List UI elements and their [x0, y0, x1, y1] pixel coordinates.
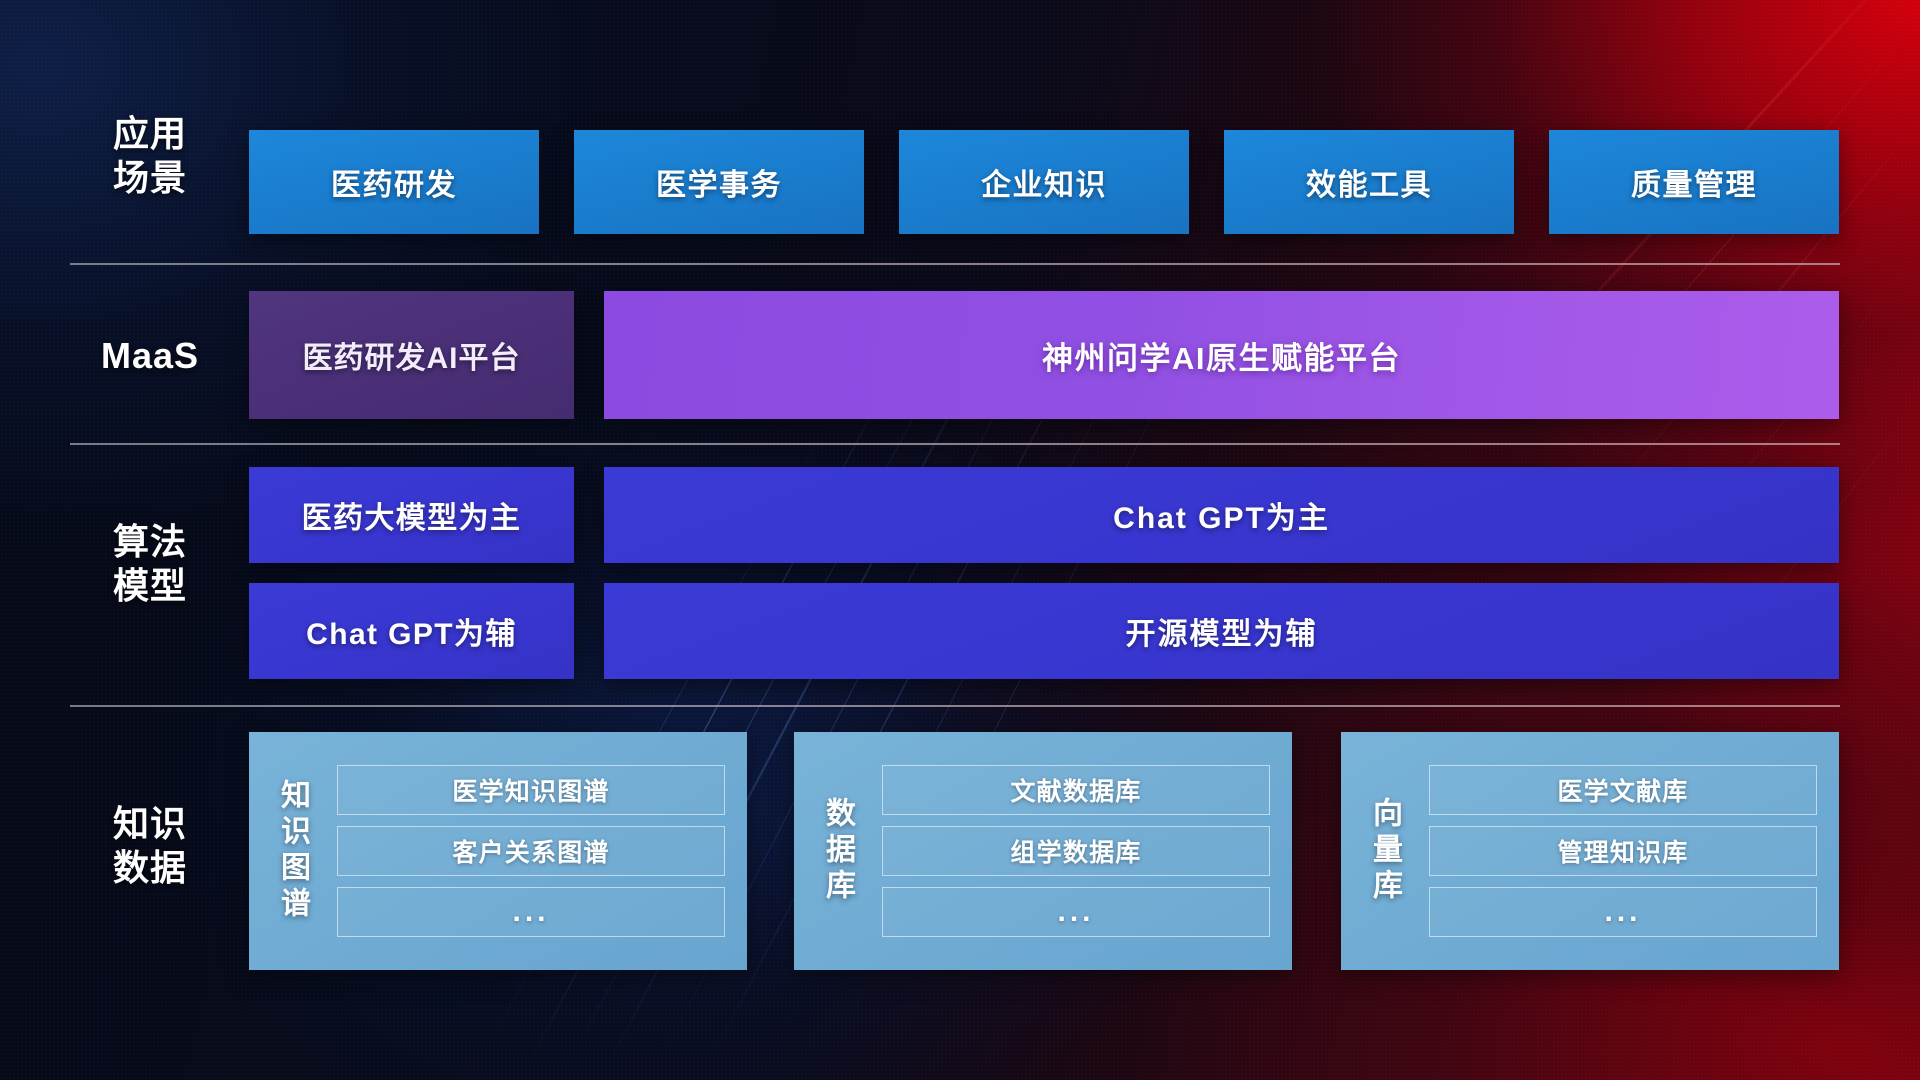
algorithm-row-0-left[interactable]: 医药大模型为主: [249, 467, 574, 563]
knowledge-group-0-label: 知识图谱: [249, 732, 335, 970]
knowledge-group-0-item-0[interactable]: 医学知识图谱: [337, 765, 725, 815]
maas-left-box[interactable]: 医药研发AI平台: [249, 291, 574, 419]
maas-right-box-label: 神州问学AI原生赋能平台: [1042, 333, 1401, 378]
app-box-2-label: 企业知识: [981, 160, 1107, 204]
knowledge-group-2-item-1[interactable]: 管理知识库: [1429, 826, 1817, 876]
app-box-0[interactable]: 医药研发: [249, 130, 539, 234]
tier-label-application: 应用 场景: [70, 112, 230, 200]
maas-right-box[interactable]: 神州问学AI原生赋能平台: [604, 291, 1839, 419]
app-box-4[interactable]: 质量管理: [1549, 130, 1839, 234]
knowledge-group-2-item-0[interactable]: 医学文献库: [1429, 765, 1817, 815]
knowledge-group-0-item-2[interactable]: ...: [337, 887, 725, 937]
knowledge-group-2-items: 医学文献库 管理知识库 ...: [1427, 732, 1839, 970]
knowledge-group-1-items: 文献数据库 组学数据库 ...: [880, 732, 1292, 970]
knowledge-group-1-label: 数据库: [794, 732, 880, 970]
algorithm-row-1-left-label: Chat GPT为辅: [306, 609, 517, 653]
tier-label-maas: MaaS: [70, 334, 230, 378]
app-box-1[interactable]: 医学事务: [574, 130, 864, 234]
algorithm-row-0-right-label: Chat GPT为主: [1113, 493, 1330, 537]
architecture-diagram: 应用 场景 医药研发 医学事务 企业知识 效能工具 质量管理 MaaS 医药研发…: [0, 0, 1920, 1080]
knowledge-group-2-item-2[interactable]: ...: [1429, 887, 1817, 937]
app-box-1-label: 医学事务: [656, 160, 782, 204]
knowledge-group-2[interactable]: 向量库 医学文献库 管理知识库 ...: [1341, 732, 1839, 970]
divider-algorithm-knowledge: [70, 705, 1840, 707]
tier-label-knowledge: 知识 数据: [70, 802, 230, 890]
app-box-3-label: 效能工具: [1306, 160, 1432, 204]
algorithm-row-1-right-label: 开源模型为辅: [1126, 609, 1318, 653]
divider-maas-algorithm: [70, 443, 1840, 445]
knowledge-group-0-items: 医学知识图谱 客户关系图谱 ...: [335, 732, 747, 970]
algorithm-row-0-right[interactable]: Chat GPT为主: [604, 467, 1839, 563]
tier-label-maas-text: MaaS: [70, 334, 230, 378]
divider-application-maas: [70, 263, 1840, 265]
tier-label-algorithm-line2: 模型: [70, 564, 230, 608]
tier-label-application-line1: 应用: [70, 112, 230, 156]
knowledge-group-0-item-1[interactable]: 客户关系图谱: [337, 826, 725, 876]
knowledge-group-1-item-0[interactable]: 文献数据库: [882, 765, 1270, 815]
tier-label-application-line2: 场景: [70, 156, 230, 200]
algorithm-row-0-left-label: 医药大模型为主: [302, 493, 522, 537]
tier-label-knowledge-line2: 数据: [70, 846, 230, 890]
knowledge-group-1[interactable]: 数据库 文献数据库 组学数据库 ...: [794, 732, 1292, 970]
tier-label-algorithm-line1: 算法: [70, 520, 230, 564]
knowledge-group-1-item-1[interactable]: 组学数据库: [882, 826, 1270, 876]
app-box-4-label: 质量管理: [1631, 160, 1757, 204]
knowledge-group-2-label: 向量库: [1341, 732, 1427, 970]
app-box-0-label: 医药研发: [331, 160, 457, 204]
maas-left-box-label: 医药研发AI平台: [303, 333, 521, 377]
knowledge-group-1-item-2[interactable]: ...: [882, 887, 1270, 937]
algorithm-row-1-left[interactable]: Chat GPT为辅: [249, 583, 574, 679]
tier-label-knowledge-line1: 知识: [70, 802, 230, 846]
app-box-2[interactable]: 企业知识: [899, 130, 1189, 234]
algorithm-row-1-right[interactable]: 开源模型为辅: [604, 583, 1839, 679]
knowledge-group-0[interactable]: 知识图谱 医学知识图谱 客户关系图谱 ...: [249, 732, 747, 970]
app-box-3[interactable]: 效能工具: [1224, 130, 1514, 234]
tier-label-algorithm: 算法 模型: [70, 520, 230, 608]
